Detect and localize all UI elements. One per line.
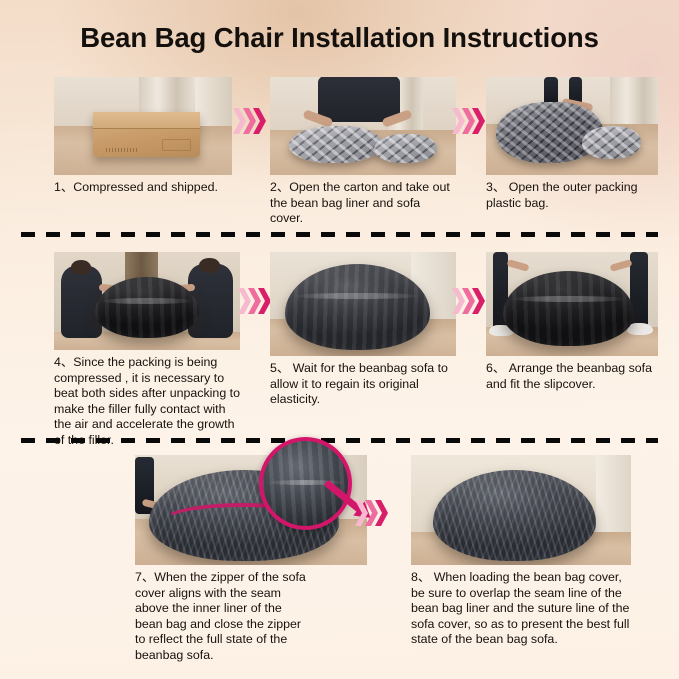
arrow-step-1-to-2 xyxy=(233,108,273,134)
step-2-photo xyxy=(270,77,456,175)
step-7-caption: 7、When the zipper of the sofa cover alig… xyxy=(135,570,367,664)
page-title: Bean Bag Chair Installation Instructions xyxy=(0,22,679,54)
step-panel-4: 4、Since the packing is being compressed … xyxy=(54,252,240,449)
step-panel-1: 1、Compressed and shipped. xyxy=(54,77,232,196)
step-1-caption: 1、Compressed and shipped. xyxy=(54,180,232,196)
infographic-page: Bean Bag Chair Installation Instructions… xyxy=(0,0,679,679)
row-divider-2 xyxy=(21,438,658,443)
arrow-step-7-to-8 xyxy=(355,500,395,526)
magnifier-circle-icon xyxy=(259,437,352,530)
step-5-photo xyxy=(270,252,456,356)
step-3-caption: 3、 Open the outer packing plastic bag. xyxy=(486,180,658,211)
step-panel-8: 8、 When loading the bean bag cover, be s… xyxy=(411,455,631,648)
step-5-caption: 5、 Wait for the beanbag sofa to allow it… xyxy=(270,361,456,408)
step-panel-2: 2、Open the carton and take out the bean … xyxy=(270,77,456,227)
step-2-caption: 2、Open the carton and take out the bean … xyxy=(270,180,456,227)
step-8-photo xyxy=(411,455,631,565)
step-4-photo xyxy=(54,252,240,350)
step-1-photo xyxy=(54,77,232,175)
step-panel-5: 5、 Wait for the beanbag sofa to allow it… xyxy=(270,252,456,408)
step-3-photo xyxy=(486,77,658,175)
step-8-caption: 8、 When loading the bean bag cover, be s… xyxy=(411,570,631,648)
step-4-caption: 4、Since the packing is being compressed … xyxy=(54,355,240,449)
step-6-caption: 6、 Arrange the beanbag sofa and fit the … xyxy=(486,361,658,392)
step-panel-6: 6、 Arrange the beanbag sofa and fit the … xyxy=(486,252,658,392)
step-panel-3: 3、 Open the outer packing plastic bag. xyxy=(486,77,658,211)
row-divider-1 xyxy=(21,232,658,237)
step-6-photo xyxy=(486,252,658,356)
